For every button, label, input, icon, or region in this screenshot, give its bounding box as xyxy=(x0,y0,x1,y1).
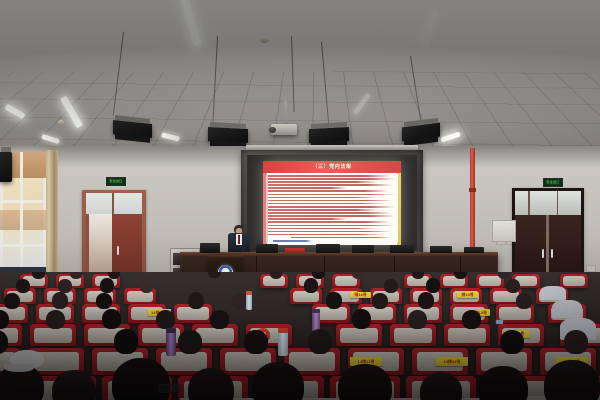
microphone xyxy=(243,240,244,252)
audience-head xyxy=(352,272,364,279)
audience-head xyxy=(516,293,532,309)
slide-text-line xyxy=(268,190,388,192)
audience-head xyxy=(506,279,520,293)
audience-head xyxy=(96,293,112,309)
seat[interactable] xyxy=(560,274,588,288)
audience-head xyxy=(498,272,510,279)
audience-head xyxy=(100,278,114,293)
eyeglasses-icon xyxy=(158,384,180,393)
audience-head xyxy=(16,279,30,293)
slide-text-line xyxy=(268,231,392,233)
window-view-building xyxy=(0,210,46,230)
audience-head xyxy=(114,329,138,354)
equipment-box xyxy=(316,244,340,253)
slide-text-line xyxy=(268,200,393,202)
slide-text-line xyxy=(268,234,383,236)
slide-body-text xyxy=(266,174,398,243)
audience-head xyxy=(326,292,342,309)
smartphone[interactable] xyxy=(496,320,503,324)
audience-head xyxy=(188,292,204,309)
audience-head xyxy=(52,292,68,309)
wall-outlet xyxy=(586,265,596,272)
slide-text-line xyxy=(268,215,395,217)
microphone xyxy=(250,241,251,252)
equipment-box xyxy=(464,247,484,253)
audience-head xyxy=(50,330,74,354)
slide-text-line xyxy=(268,184,392,186)
audience-head xyxy=(384,279,398,293)
slide-text-line xyxy=(268,203,386,205)
slide-text-line xyxy=(268,181,378,183)
audience-head xyxy=(140,279,153,293)
seat-back-pad xyxy=(177,307,208,320)
audience-head xyxy=(4,293,20,309)
audience-head xyxy=(58,279,72,293)
exit-sign-label: 安全出口 xyxy=(109,180,122,183)
slide-accent-text-line xyxy=(273,240,311,242)
slide-text-line xyxy=(268,197,378,199)
seat-back-pad xyxy=(293,291,319,302)
audience-head xyxy=(208,272,221,278)
right-door-transom xyxy=(515,191,581,215)
right-door-handle[interactable] xyxy=(542,249,544,258)
seat-number-placard: 排14号 xyxy=(350,292,371,298)
slide-text-line xyxy=(268,212,391,214)
cap-brim xyxy=(4,364,34,372)
slide-text-line xyxy=(268,209,378,211)
audience-head xyxy=(244,330,268,354)
slide-accent-text-line xyxy=(291,237,391,239)
transom-mullion xyxy=(112,193,114,214)
wall-speaker xyxy=(0,152,12,182)
audience-head xyxy=(408,310,427,329)
slide-title: （三）党内法规 xyxy=(263,163,401,172)
left-door-edge xyxy=(86,214,89,280)
equipment-box xyxy=(352,245,374,253)
foreground-head xyxy=(544,360,600,400)
audience-shoulders xyxy=(552,300,582,318)
left-door-handle[interactable] xyxy=(117,246,119,255)
audience-head xyxy=(462,310,481,329)
left-door-transom xyxy=(86,193,142,214)
audience-head xyxy=(156,310,175,329)
seat-number-placard: 排13号 xyxy=(457,292,478,298)
placard-text: 排13号 xyxy=(461,293,473,297)
bottle-cap xyxy=(166,328,176,333)
window-mullion xyxy=(0,244,46,247)
equipment-box xyxy=(390,245,414,253)
audience-head xyxy=(102,309,121,329)
audience-head xyxy=(372,293,388,309)
exit-sign-right: 安全出口 xyxy=(543,178,563,187)
water-bottle xyxy=(278,332,288,356)
audience-head xyxy=(210,310,229,329)
thermos-bottle xyxy=(166,332,176,356)
slide-text-line xyxy=(268,221,390,223)
left-door-open-gap xyxy=(88,214,112,280)
slide-text-line xyxy=(268,187,347,189)
audience-head xyxy=(352,309,371,329)
foreground-head xyxy=(338,364,392,400)
slide-text-line xyxy=(268,175,391,177)
transom-mullion xyxy=(557,191,558,215)
audience-head xyxy=(418,292,434,309)
lecture-hall-photo: 安全出口 安全出口 （三）党内法规 xyxy=(0,0,600,400)
window-curtain xyxy=(44,150,58,280)
equipment-box xyxy=(430,246,452,253)
foreground-head xyxy=(188,368,234,400)
ceiling-vignette xyxy=(0,0,600,152)
seat-back-pad xyxy=(394,328,432,343)
seat-back-pad xyxy=(315,307,346,320)
ceiling xyxy=(0,0,600,152)
red-folder-on-desk xyxy=(285,248,305,253)
foreground-head xyxy=(252,362,304,400)
audience-head xyxy=(178,330,202,354)
seat-back-pad xyxy=(448,328,486,343)
placard-text: 14排13号 xyxy=(444,360,461,364)
equipment-box xyxy=(256,244,278,253)
slide-text-line xyxy=(268,194,395,196)
laptop-on-desk xyxy=(200,243,220,253)
placard-text: 14排12号 xyxy=(358,360,375,364)
presentation-slide: （三）党内法规 xyxy=(263,161,401,245)
seat-back-pad xyxy=(340,328,378,343)
presenter-tie xyxy=(238,235,240,244)
wall-control-panel xyxy=(492,220,516,242)
slide-text-line xyxy=(268,218,347,220)
right-door-handle[interactable] xyxy=(551,249,553,258)
placard-text: 排14号 xyxy=(354,293,366,297)
audience-head xyxy=(426,278,440,293)
audience-shoulders xyxy=(540,286,566,300)
projection-screen: （三）党内法规 xyxy=(241,150,423,257)
bottle-cap xyxy=(312,309,320,313)
window-mullion xyxy=(20,152,23,274)
bottle-cap xyxy=(278,328,288,333)
exit-sign-label: 安全出口 xyxy=(546,181,559,184)
slide-text-line xyxy=(268,228,378,230)
water-bottle xyxy=(246,294,252,310)
lectern-top xyxy=(207,255,243,258)
bottle-cap xyxy=(246,291,252,295)
pipe-band xyxy=(469,188,476,192)
seat-back-pad xyxy=(499,307,530,320)
foreground-head xyxy=(478,366,528,400)
exit-sign-left: 安全出口 xyxy=(106,177,126,186)
audience-seating-area: 排14号 排13号 xyxy=(0,272,600,400)
audience-head xyxy=(564,330,588,354)
audience-head xyxy=(308,329,332,354)
audience-head xyxy=(500,330,524,354)
seat-number-placard: 14排13号 xyxy=(436,357,468,366)
slide-text-line xyxy=(268,206,395,208)
foreground-head xyxy=(52,370,96,400)
seat-back-pad xyxy=(563,276,586,286)
transom-mullion xyxy=(528,191,530,215)
audience-head xyxy=(46,310,65,329)
audience-head xyxy=(304,278,318,293)
slide-text-line xyxy=(268,178,395,180)
slide-text-line xyxy=(268,225,395,227)
foreground-head-with-glasses xyxy=(112,358,170,400)
presenter xyxy=(227,225,251,253)
screen-surface: （三）党内法规 xyxy=(247,155,417,251)
window-mullion xyxy=(0,200,46,203)
seat-back-pad xyxy=(479,276,502,286)
